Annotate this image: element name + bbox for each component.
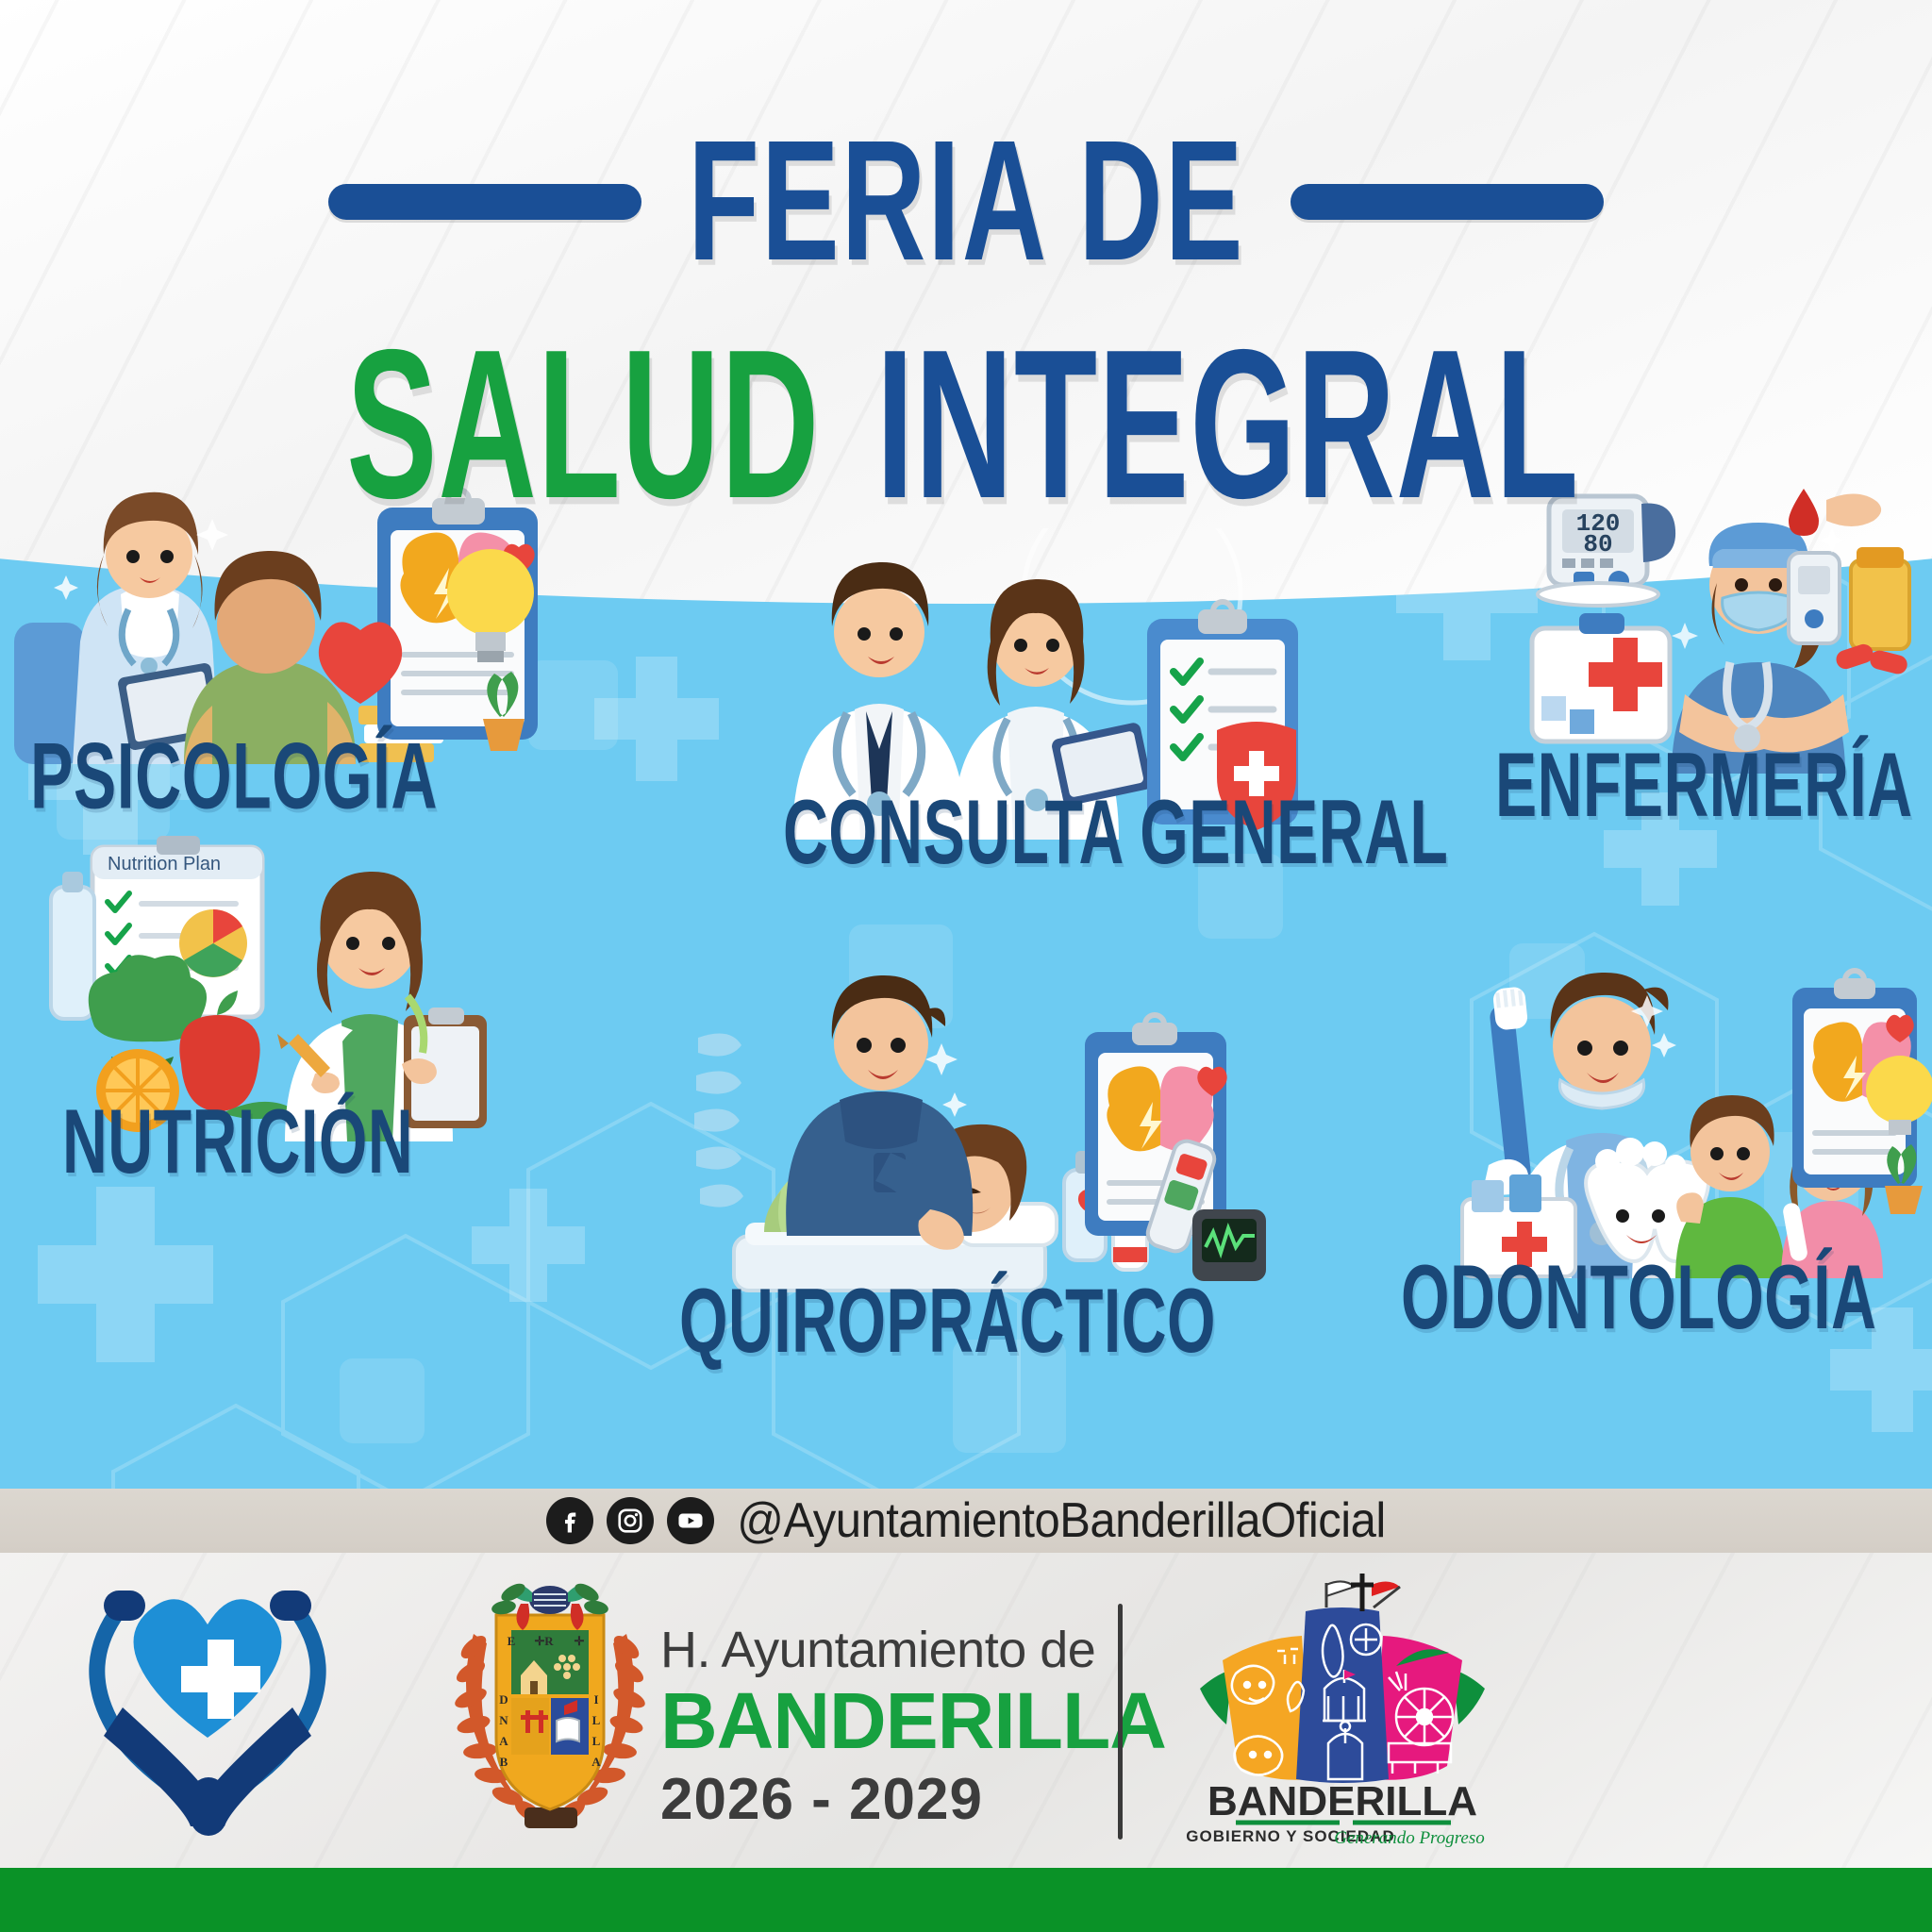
- stethoscope-heart-logo: [66, 1566, 349, 1849]
- footer-divider: [1118, 1604, 1123, 1840]
- svg-text:D: D: [499, 1692, 508, 1707]
- svg-text:80: 80: [1583, 530, 1612, 558]
- bottom-green-bar: [0, 1868, 1932, 1932]
- banderilla-coat-of-arms: BAN DE✛ R✛ IL LA: [441, 1577, 658, 1837]
- quiropractico-illustration: [689, 953, 1274, 1321]
- title-dash-left: [328, 184, 641, 220]
- svg-text:R: R: [544, 1634, 554, 1648]
- svg-text:N: N: [499, 1713, 508, 1727]
- service-card-odontologia: ODONTOLOGÍA: [1406, 929, 1932, 1278]
- service-label-psicologia: PSICOLOGÍA: [30, 723, 438, 830]
- svg-text:A: A: [499, 1734, 508, 1748]
- brand-script: Generando Progreso: [1334, 1828, 1485, 1848]
- title-line-1-row: FERIA DE: [0, 142, 1932, 262]
- title-block: FERIA DE SALUDINTEGRAL: [0, 0, 1932, 496]
- svg-text:B: B: [500, 1755, 508, 1769]
- facebook-icon[interactable]: [546, 1497, 593, 1544]
- svg-text:L: L: [592, 1734, 601, 1748]
- social-bar: @AyuntamientoBanderillaOficial: [0, 1489, 1932, 1553]
- social-handle[interactable]: @AyuntamientoBanderillaOficial: [737, 1492, 1386, 1548]
- instagram-icon[interactable]: [607, 1497, 654, 1544]
- service-card-consulta-general: CONSULTA GENERAL: [774, 528, 1302, 840]
- poster-canvas: FERIA DE SALUDINTEGRAL: [0, 0, 1932, 1932]
- svg-text:L: L: [592, 1713, 601, 1727]
- service-label-consulta-general: CONSULTA GENERAL: [783, 781, 1448, 885]
- service-label-quiropractico: QUIROPRÁCTICO: [679, 1270, 1216, 1374]
- service-label-odontologia: ODONTOLOGÍA: [1401, 1246, 1876, 1350]
- ayuntamiento-text-block: H. Ayuntamiento de BANDERILLA 2026 - 202…: [660, 1621, 1166, 1833]
- title-salud: SALUD: [347, 319, 821, 531]
- service-card-nutricion: Nutrition Plan: [38, 830, 491, 1141]
- svg-text:A: A: [591, 1755, 601, 1769]
- svg-text:✛: ✛: [575, 1634, 585, 1648]
- title-line-2-row: SALUDINTEGRAL: [0, 353, 1932, 496]
- odontologia-illustration: [1406, 929, 1932, 1278]
- brand-wordmark: BANDERILLA: [1207, 1778, 1477, 1824]
- title-feria-de: FERIA DE: [688, 116, 1244, 288]
- ayuntamiento-line-1: H. Ayuntamiento de: [660, 1621, 1166, 1679]
- title-dash-right: [1291, 184, 1604, 220]
- ayuntamiento-line-2: BANDERILLA: [660, 1681, 1166, 1762]
- service-card-quiropractico: QUIROPRÁCTICO: [689, 953, 1274, 1321]
- youtube-icon[interactable]: [667, 1497, 714, 1544]
- service-label-nutricion: NUTRICIÓN: [62, 1091, 413, 1194]
- svg-text:I: I: [593, 1692, 598, 1707]
- svg-text:Nutrition Plan: Nutrition Plan: [108, 854, 221, 874]
- service-label-enfermeria: ENFERMERÍA: [1495, 734, 1913, 838]
- svg-text:✛: ✛: [535, 1634, 545, 1648]
- title-integral: INTEGRAL: [875, 319, 1579, 531]
- ayuntamiento-years: 2026 - 2029: [660, 1766, 1166, 1833]
- svg-text:E: E: [508, 1634, 516, 1648]
- banderilla-fan-logo: BANDERILLA GOBIERNO Y SOCIEDAD Generando…: [1187, 1568, 1498, 1851]
